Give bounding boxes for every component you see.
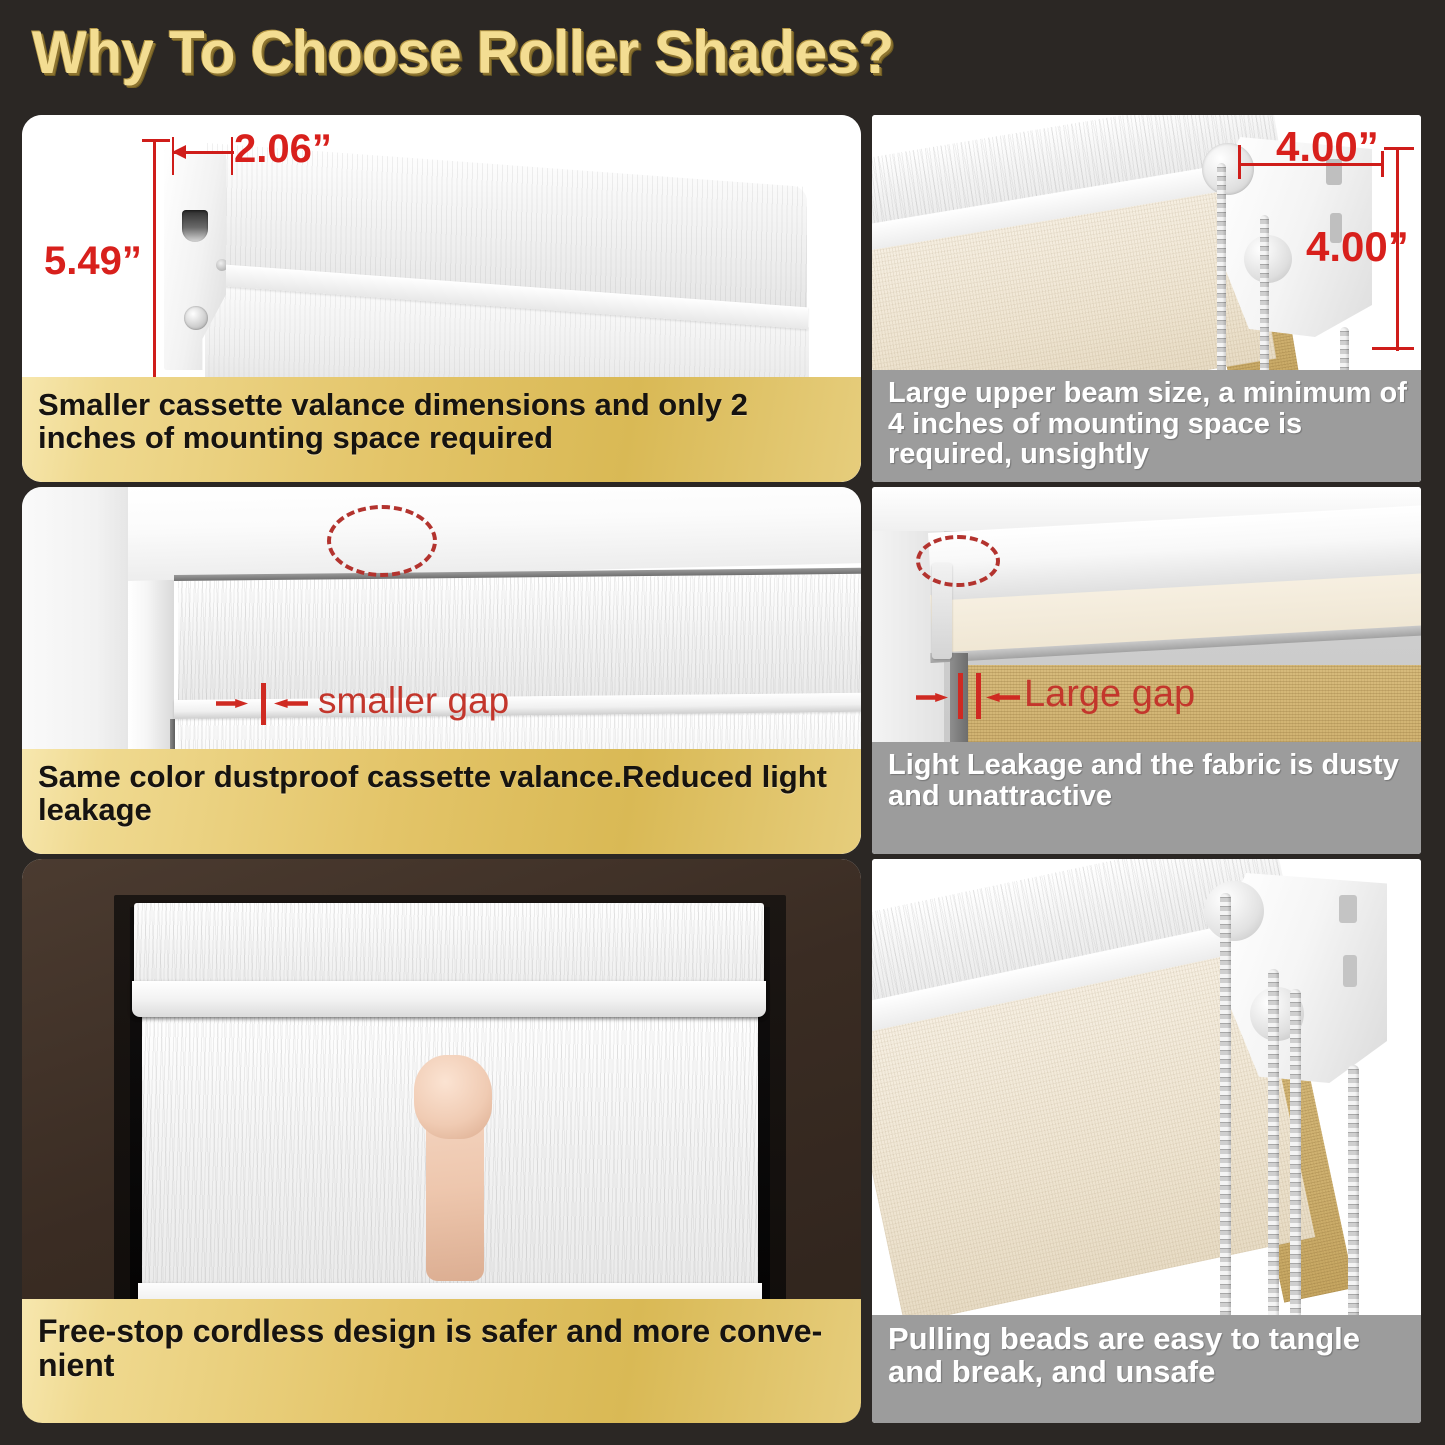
panel-2-caption: Large upper beam size, a minimum of 4 in… [872, 370, 1421, 482]
panel-cassette-dimensions: 2.06” 5.49” Smaller cassette valance dim… [22, 115, 861, 482]
beam-width-tick-left [1238, 145, 1241, 179]
gap-marker-bar-2 [976, 673, 981, 719]
panel-5-caption: Free-stop cordless design is safer and m… [22, 1299, 861, 1423]
panel-3-caption: Same color dustproof cassette valance.Re… [22, 749, 861, 854]
bead-chain-front [1220, 893, 1231, 1323]
screw-lower [184, 306, 208, 330]
panel-cordless-design: Free-stop cordless design is safer and m… [22, 859, 861, 1423]
comparison-grid: 2.06” 5.49” Smaller cassette valance dim… [0, 104, 1445, 1445]
infographic-page: Why To Choose Roller Shades? [0, 0, 1445, 1445]
beam-width-label: 4.00” [1276, 123, 1379, 171]
height-dimension-label: 5.49” [44, 239, 142, 284]
panel-large-gap: Large gap Light Leakage and the fabric i… [872, 487, 1421, 854]
gap-marker-bar-1 [958, 673, 963, 719]
roller-end-disc [1204, 881, 1264, 941]
highlight-ellipse [327, 505, 437, 577]
beam-width-tick-right [1381, 151, 1384, 177]
bead-chain-back [1290, 989, 1301, 1325]
width-dim-tick-left [172, 137, 174, 175]
width-dimension-label: 2.06” [234, 127, 332, 172]
page-header: Why To Choose Roller Shades? [0, 0, 1445, 104]
height-dim-cap-top [142, 139, 170, 142]
highlight-ellipse [916, 535, 1000, 587]
panel-smaller-gap: smaller gap Same color dustproof cassett… [22, 487, 861, 854]
bracket-slot [182, 210, 208, 242]
width-dim-tick-right [231, 137, 233, 175]
panel-4-caption: Light Leakage and the fabric is dusty an… [872, 742, 1421, 854]
shade-fabric-upper [178, 574, 861, 701]
panel-pulling-beads: Pulling beads are easy to tangle and bre… [872, 859, 1421, 1423]
panel-1-caption: Smaller cassette valance dimensions and … [22, 377, 861, 482]
bead-chain-loop [1348, 1065, 1359, 1323]
hand-fist [414, 1055, 492, 1139]
large-gap-label: Large gap [1024, 673, 1195, 716]
smaller-gap-label: smaller gap [318, 680, 509, 722]
bracket-notch-2 [1343, 955, 1357, 987]
bead-chain-middle [1268, 969, 1279, 1325]
gap-marker-bar [261, 683, 266, 725]
panel-6-caption: Pulling beads are easy to tangle and bre… [872, 1315, 1421, 1423]
beam-height-label: 4.00” [1306, 223, 1409, 271]
beam-height-cap-top [1384, 147, 1414, 150]
beam-height-cap-bottom [1372, 347, 1414, 350]
page-title: Why To Choose Roller Shades? [32, 18, 894, 87]
valance-lip [132, 981, 766, 1017]
bracket-notch-1 [1339, 895, 1357, 923]
roller-end-disc [1202, 143, 1254, 195]
height-dim-line [153, 139, 156, 393]
window-frame-top [128, 487, 861, 581]
panel-large-beam: 4.00” 4.00” Large upper beam size, a min… [872, 115, 1421, 482]
